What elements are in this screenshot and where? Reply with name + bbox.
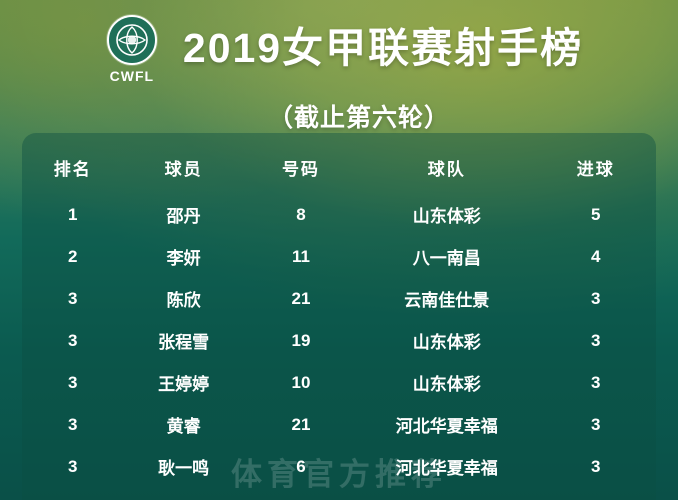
cell-number: 6 xyxy=(244,446,358,488)
cell-rank: 3 xyxy=(22,488,123,500)
cell-goals: 3 xyxy=(536,278,656,320)
cell-team: 河北华夏幸福 xyxy=(358,446,536,488)
cell-rank: 3 xyxy=(22,278,123,320)
logo-badge-icon xyxy=(107,15,157,65)
cell-team: 山东体彩 xyxy=(358,320,536,362)
table-header: 排名 球员 号码 球队 进球 xyxy=(22,133,656,194)
cell-number: 21 xyxy=(244,278,358,320)
table-row: 3 陈欣 21 云南佳仕景 3 xyxy=(22,278,656,320)
cell-number: 19 xyxy=(244,320,358,362)
cell-number: 10 xyxy=(244,362,358,404)
cell-team: 河北华夏幸福 xyxy=(358,404,536,446)
scorer-table: 排名 球员 号码 球队 进球 1 邵丹 8 山东体彩 5 2 李妍 xyxy=(22,133,656,500)
cell-player: 黄斯祺 xyxy=(123,488,243,500)
cell-player: 张程雪 xyxy=(123,320,243,362)
column-header-team: 球队 xyxy=(358,133,536,194)
cell-player: 王婷婷 xyxy=(123,362,243,404)
cell-rank: 3 xyxy=(22,404,123,446)
cell-team: 八一南昌 xyxy=(358,236,536,278)
column-header-rank: 排名 xyxy=(22,133,123,194)
table-row: 3 王婷婷 10 山东体彩 3 xyxy=(22,362,656,404)
cell-player: 陈欣 xyxy=(123,278,243,320)
poster-background: CWFL 2019女甲联赛射手榜 （截止第六轮） 排名 球员 号码 球队 进球 xyxy=(0,0,678,500)
title-block: 2019女甲联赛射手榜 xyxy=(183,26,583,71)
cell-goals: 3 xyxy=(536,404,656,446)
cell-goals: 3 xyxy=(536,320,656,362)
column-header-number: 号码 xyxy=(244,133,358,194)
column-header-player: 球员 xyxy=(123,133,243,194)
cell-team: 云南佳仕景 xyxy=(358,278,536,320)
cell-goals: 3 xyxy=(536,362,656,404)
cell-team: 河北华夏幸福 xyxy=(358,488,536,500)
cell-goals: 3 xyxy=(536,488,656,500)
cwfl-logo: CWFL xyxy=(95,12,169,86)
poster-header: CWFL 2019女甲联赛射手榜 xyxy=(0,0,678,86)
cell-goals: 3 xyxy=(536,446,656,488)
cell-number: 11 xyxy=(244,236,358,278)
cell-player: 耿一鸣 xyxy=(123,446,243,488)
table-row: 3 耿一鸣 6 河北华夏幸福 3 xyxy=(22,446,656,488)
cell-rank: 3 xyxy=(22,362,123,404)
cell-rank: 3 xyxy=(22,320,123,362)
cell-number: 8 xyxy=(244,194,358,236)
table-header-row: 排名 球员 号码 球队 进球 xyxy=(22,133,656,194)
page-title: 2019女甲联赛射手榜 xyxy=(183,26,583,71)
cell-player: 邵丹 xyxy=(123,194,243,236)
cell-number: 21 xyxy=(244,404,358,446)
cell-goals: 4 xyxy=(536,236,656,278)
cell-team: 山东体彩 xyxy=(358,194,536,236)
table-row: 1 邵丹 8 山东体彩 5 xyxy=(22,194,656,236)
cell-number: 11 xyxy=(244,488,358,500)
column-header-goals: 进球 xyxy=(536,133,656,194)
table-row: 3 张程雪 19 山东体彩 3 xyxy=(22,320,656,362)
cell-player: 黄睿 xyxy=(123,404,243,446)
scorer-table-panel: 排名 球员 号码 球队 进球 1 邵丹 8 山东体彩 5 2 李妍 xyxy=(22,133,656,500)
cell-goals: 5 xyxy=(536,194,656,236)
cell-rank: 3 xyxy=(22,446,123,488)
table-row: 2 李妍 11 八一南昌 4 xyxy=(22,236,656,278)
table-row: 3 黄斯祺 11 河北华夏幸福 3 xyxy=(22,488,656,500)
logo-text: CWFL xyxy=(110,68,154,84)
cell-rank: 1 xyxy=(22,194,123,236)
cell-player: 李妍 xyxy=(123,236,243,278)
cell-team: 山东体彩 xyxy=(358,362,536,404)
cell-rank: 2 xyxy=(22,236,123,278)
table-body: 1 邵丹 8 山东体彩 5 2 李妍 11 八一南昌 4 3 陈欣 21 xyxy=(22,194,656,500)
page-subtitle: （截止第六轮） xyxy=(0,98,678,134)
table-row: 3 黄睿 21 河北华夏幸福 3 xyxy=(22,404,656,446)
